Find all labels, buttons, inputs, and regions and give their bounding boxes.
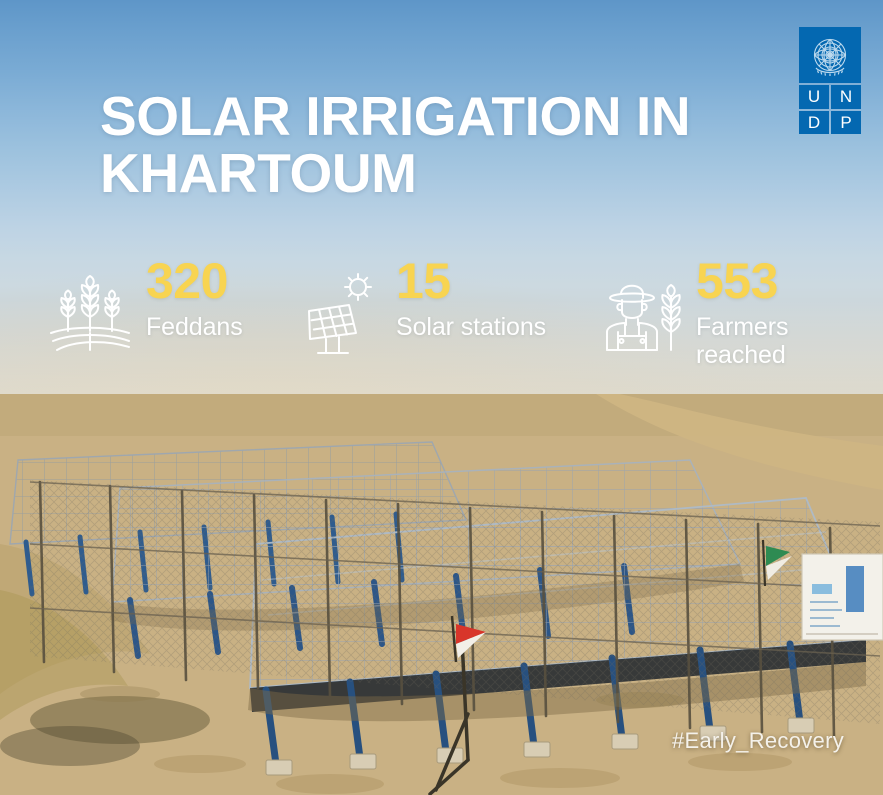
stat-item-feddans: 320 Feddans <box>42 250 243 390</box>
undp-logo[interactable]: U N D P <box>799 27 861 134</box>
wheat-field-icon <box>42 266 138 362</box>
hashtag-early-recovery: #Early_Recovery <box>672 728 844 754</box>
stat-value-farmers-reached: 553 <box>696 258 788 306</box>
stat-text-feddans: 320 Feddans <box>146 258 243 341</box>
undp-letter-p: P <box>831 111 861 135</box>
undp-letter-d: D <box>799 111 829 135</box>
solar-panel-icon <box>292 266 388 362</box>
stat-label-farmers-reached: Farmers reached <box>696 313 788 369</box>
stats-row: 320 Feddans <box>0 250 883 390</box>
stat-text-solar-stations: 15 Solar stations <box>396 258 546 341</box>
page-title: SOLAR IRRIGATION IN KHARTOUM <box>100 88 740 201</box>
undp-letter-n: N <box>831 85 861 109</box>
undp-letter-u: U <box>799 85 829 109</box>
stat-text-farmers-reached: 553 Farmers reached <box>696 258 788 369</box>
stat-value-feddans: 320 <box>146 258 243 306</box>
stat-item-solar-stations: 15 Solar stations <box>292 250 546 390</box>
stat-label-solar-stations: Solar stations <box>396 313 546 341</box>
stat-item-farmers-reached: 553 Farmers reached <box>592 250 788 390</box>
stat-label-feddans: Feddans <box>146 313 243 341</box>
farmer-icon <box>592 266 688 362</box>
infographic-poster: U N D P SOLAR IRRIGATION IN KHARTOUM <box>0 0 883 795</box>
undp-letters-grid: U N D P <box>799 85 861 134</box>
stat-value-solar-stations: 15 <box>396 258 546 306</box>
un-emblem-icon <box>799 27 861 83</box>
